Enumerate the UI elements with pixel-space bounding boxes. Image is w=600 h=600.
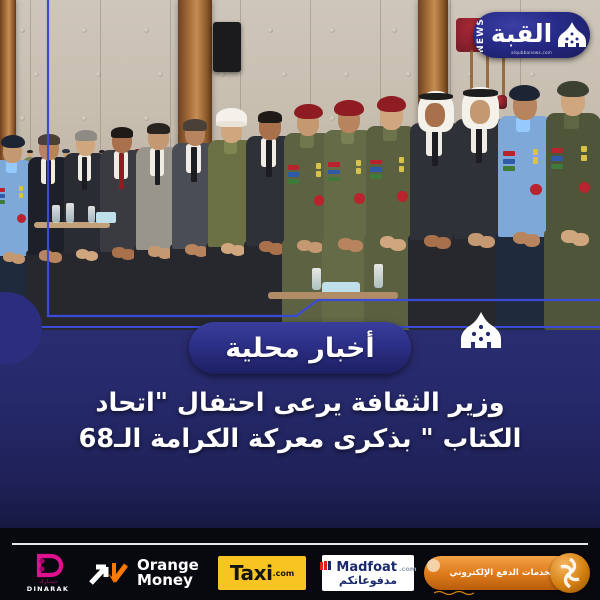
- water-bottle: [52, 205, 60, 223]
- headline-line-1: وزير الثقافة يرعى احتفال "اتحاد: [22, 385, 578, 421]
- sponsor-dinarak[interactable]: دينــارك DINARAK: [22, 550, 74, 596]
- dinarak-logo-icon: [33, 553, 63, 578]
- speaker-box: [213, 22, 241, 72]
- efawateercom-globe-icon: [550, 553, 590, 593]
- water-bottle: [88, 206, 95, 223]
- headline-text: وزير الثقافة يرعى احتفال "اتحاد الكتاب "…: [22, 385, 578, 457]
- category-banner[interactable]: أخبار محلية: [189, 322, 411, 374]
- sponsor-divider: [12, 543, 588, 545]
- channel-logo[interactable]: NEWS القبة alqubbanews.com: [473, 12, 590, 58]
- madfoat-logo-icon: [319, 560, 334, 571]
- water-bottle: [312, 268, 321, 290]
- tissue-box: [96, 212, 116, 223]
- madfoat-suffix: .com: [399, 565, 417, 573]
- water-bottle: [374, 264, 383, 288]
- category-label: أخبار محلية: [225, 335, 374, 362]
- taxi-suffix: .com: [273, 569, 295, 578]
- water-bottle: [66, 203, 74, 223]
- orange-money-label: Orange Money: [137, 558, 199, 589]
- dome-emblem-icon: [459, 311, 503, 351]
- orange-money-arrows-icon: [88, 559, 132, 587]
- efw-underline-icon: [434, 590, 478, 595]
- sponsor-efawateercom[interactable]: راحتك لخدمات الدفع الإلكتروني: [424, 556, 588, 590]
- logo-news-label: NEWS: [476, 18, 486, 53]
- dome-icon: [557, 21, 587, 49]
- sponsor-taxi[interactable]: Taxi.com: [218, 556, 306, 590]
- sponsor-bar: دينــارك DINARAK Orange Money Taxi.com: [0, 528, 600, 600]
- madfoat-label: Madfoat: [336, 560, 397, 575]
- logo-brand-arabic: القبة: [491, 21, 552, 46]
- orange-money-line2: Money: [137, 573, 199, 588]
- efw-dot-icon: [427, 559, 440, 572]
- headline-line-2: الكتاب " بذكرى معركة الكرامة الـ68: [22, 421, 578, 457]
- news-card: NEWS القبة alqubbanews.com أخبار محلية و…: [0, 0, 600, 600]
- madfoat-label-arabic: مدفوعاتكم: [339, 575, 397, 586]
- front-table: [268, 292, 398, 299]
- sponsor-madfoat[interactable]: Madfoat .com مدفوعاتكم: [322, 555, 414, 591]
- logo-tagline: alqubbanews.com: [473, 50, 590, 55]
- taxi-label: Taxi: [230, 561, 273, 585]
- sponsor-orange-money[interactable]: Orange Money: [88, 550, 208, 596]
- dinarak-label-english: DINARAK: [27, 585, 69, 593]
